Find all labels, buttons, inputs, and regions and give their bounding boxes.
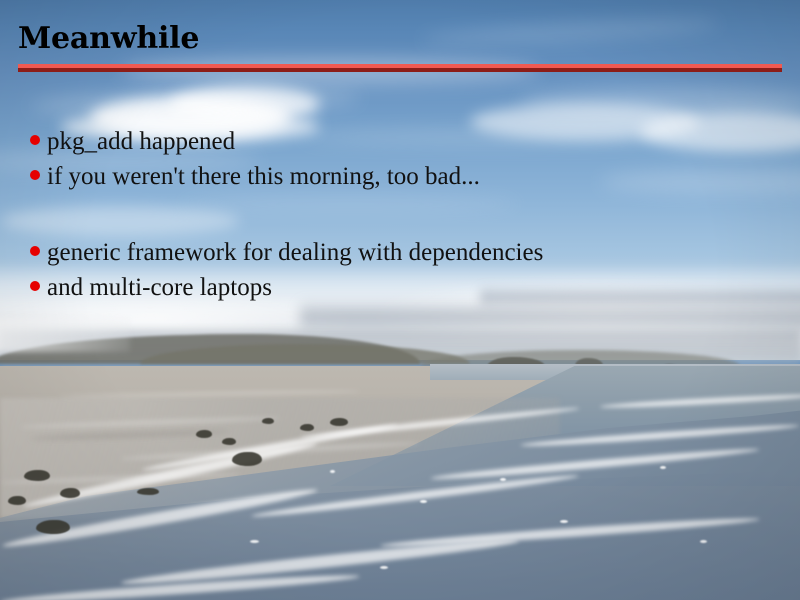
seaweed-clump <box>300 424 314 431</box>
lit-dune-slope <box>0 318 130 352</box>
list-item: pkg_add happened <box>30 128 770 163</box>
seaweed-clump <box>60 488 80 498</box>
list-item-label: if you weren't there this morning, too b… <box>47 163 480 191</box>
seaweed-clump <box>8 496 26 505</box>
presentation-slide: Meanwhile pkg_add happened if you weren'… <box>0 0 800 600</box>
list-item: if you weren't there this morning, too b… <box>30 163 770 198</box>
list-item: generic framework for dealing with depen… <box>30 239 770 274</box>
seaweed-clump <box>330 418 348 426</box>
bullet-dot-icon <box>30 281 40 291</box>
water-glint <box>700 540 707 543</box>
seaweed-clump <box>262 418 274 424</box>
list-item: and multi-core laptops <box>30 274 770 309</box>
bullet-list: pkg_add happened if you weren't there th… <box>30 128 770 309</box>
list-item-label: generic framework for dealing with depen… <box>47 239 543 267</box>
seaweed-clump <box>222 438 236 445</box>
bullet-dot-icon <box>30 135 40 145</box>
title-divider-shadow <box>18 68 782 72</box>
seaweed-clump <box>196 430 212 438</box>
list-item-label: pkg_add happened <box>47 128 235 156</box>
seaweed-clump <box>137 488 159 495</box>
page-title: Meanwhile <box>18 22 199 56</box>
water-glint <box>330 470 335 473</box>
list-item-label: and multi-core laptops <box>47 274 272 302</box>
bullet-dot-icon <box>30 170 40 180</box>
water-glint <box>560 520 568 523</box>
seaweed-clump <box>36 520 70 534</box>
bullet-dot-icon <box>30 246 40 256</box>
water-glint <box>420 500 427 503</box>
seaweed-clump <box>24 470 50 481</box>
water-glint <box>380 566 388 569</box>
seaweed-clump <box>232 452 262 466</box>
title-divider <box>18 64 782 72</box>
water-glint <box>250 540 259 543</box>
water-glint <box>660 466 666 469</box>
water-glint <box>500 478 506 481</box>
